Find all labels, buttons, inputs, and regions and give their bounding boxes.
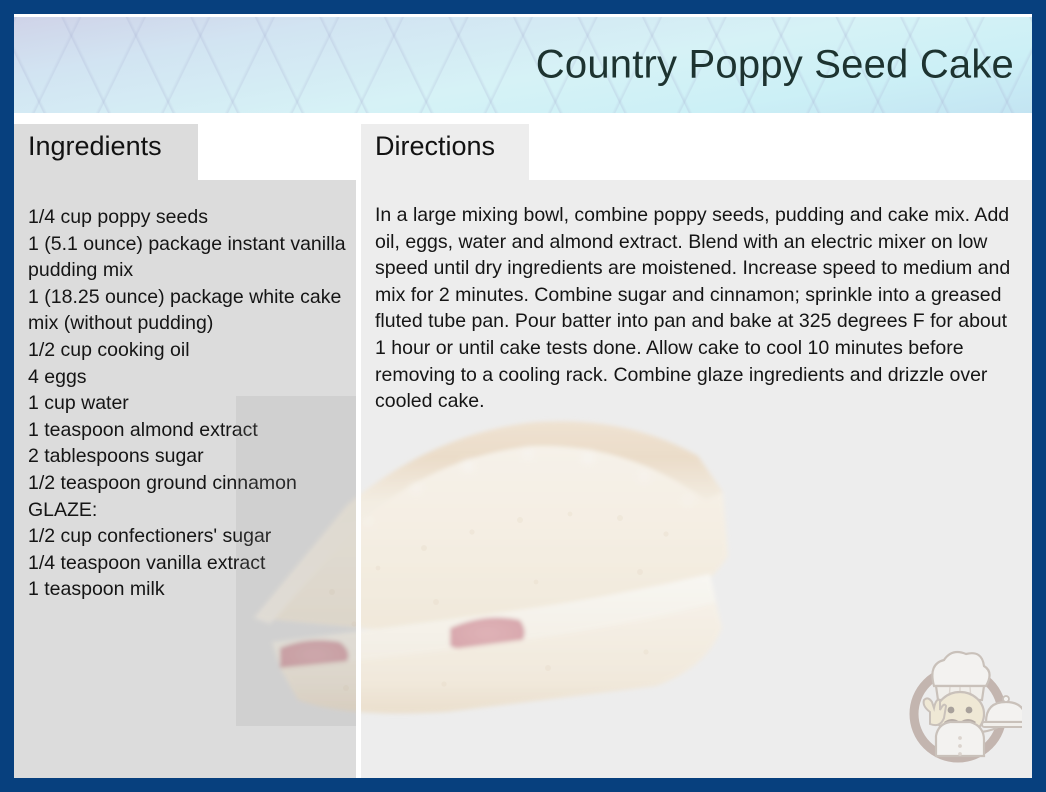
list-item: 1/2 cup cooking oil <box>28 337 346 364</box>
column-divider <box>356 124 361 778</box>
list-item: 1/2 teaspoon ground cinnamon <box>28 470 346 497</box>
content-area: Ingredients 1/4 cup poppy seeds 1 (5.1 o… <box>14 124 1032 778</box>
list-item: GLAZE: <box>28 497 346 524</box>
page-title: Country Poppy Seed Cake <box>536 43 1014 88</box>
list-item: 4 eggs <box>28 364 346 391</box>
list-item: 1/4 cup poppy seeds <box>28 204 346 231</box>
directions-panel: Directions In a large mixing bowl, combi… <box>361 124 1032 778</box>
ingredients-list: 1/4 cup poppy seeds 1 (5.1 ounce) packag… <box>28 204 346 603</box>
recipe-card-inner: Country Poppy Seed Cake Ingredients 1/4 … <box>14 14 1032 778</box>
ingredients-heading-tab: Ingredients <box>14 124 198 168</box>
directions-heading-tab: Directions <box>361 124 529 168</box>
directions-tab-notch <box>529 124 1032 180</box>
list-item: 1/2 cup confectioners' sugar <box>28 523 346 550</box>
directions-heading: Directions <box>375 133 495 160</box>
directions-body-text: In a large mixing bowl, combine poppy se… <box>375 202 1016 415</box>
list-item: 1 teaspoon almond extract <box>28 417 346 444</box>
list-item: 2 tablespoons sugar <box>28 443 346 470</box>
ingredients-tab-notch <box>198 124 356 180</box>
ingredients-heading: Ingredients <box>28 133 162 160</box>
header-banner: Country Poppy Seed Cake <box>14 17 1032 113</box>
list-item: 1/4 teaspoon vanilla extract <box>28 550 346 577</box>
recipe-card: Country Poppy Seed Cake Ingredients 1/4 … <box>0 0 1046 792</box>
list-item: 1 (18.25 ounce) package white cake mix (… <box>28 284 346 337</box>
ingredients-panel: Ingredients 1/4 cup poppy seeds 1 (5.1 o… <box>14 124 356 778</box>
list-item: 1 cup water <box>28 390 346 417</box>
list-item: 1 teaspoon milk <box>28 576 346 603</box>
list-item: 1 (5.1 ounce) package instant vanilla pu… <box>28 231 346 284</box>
